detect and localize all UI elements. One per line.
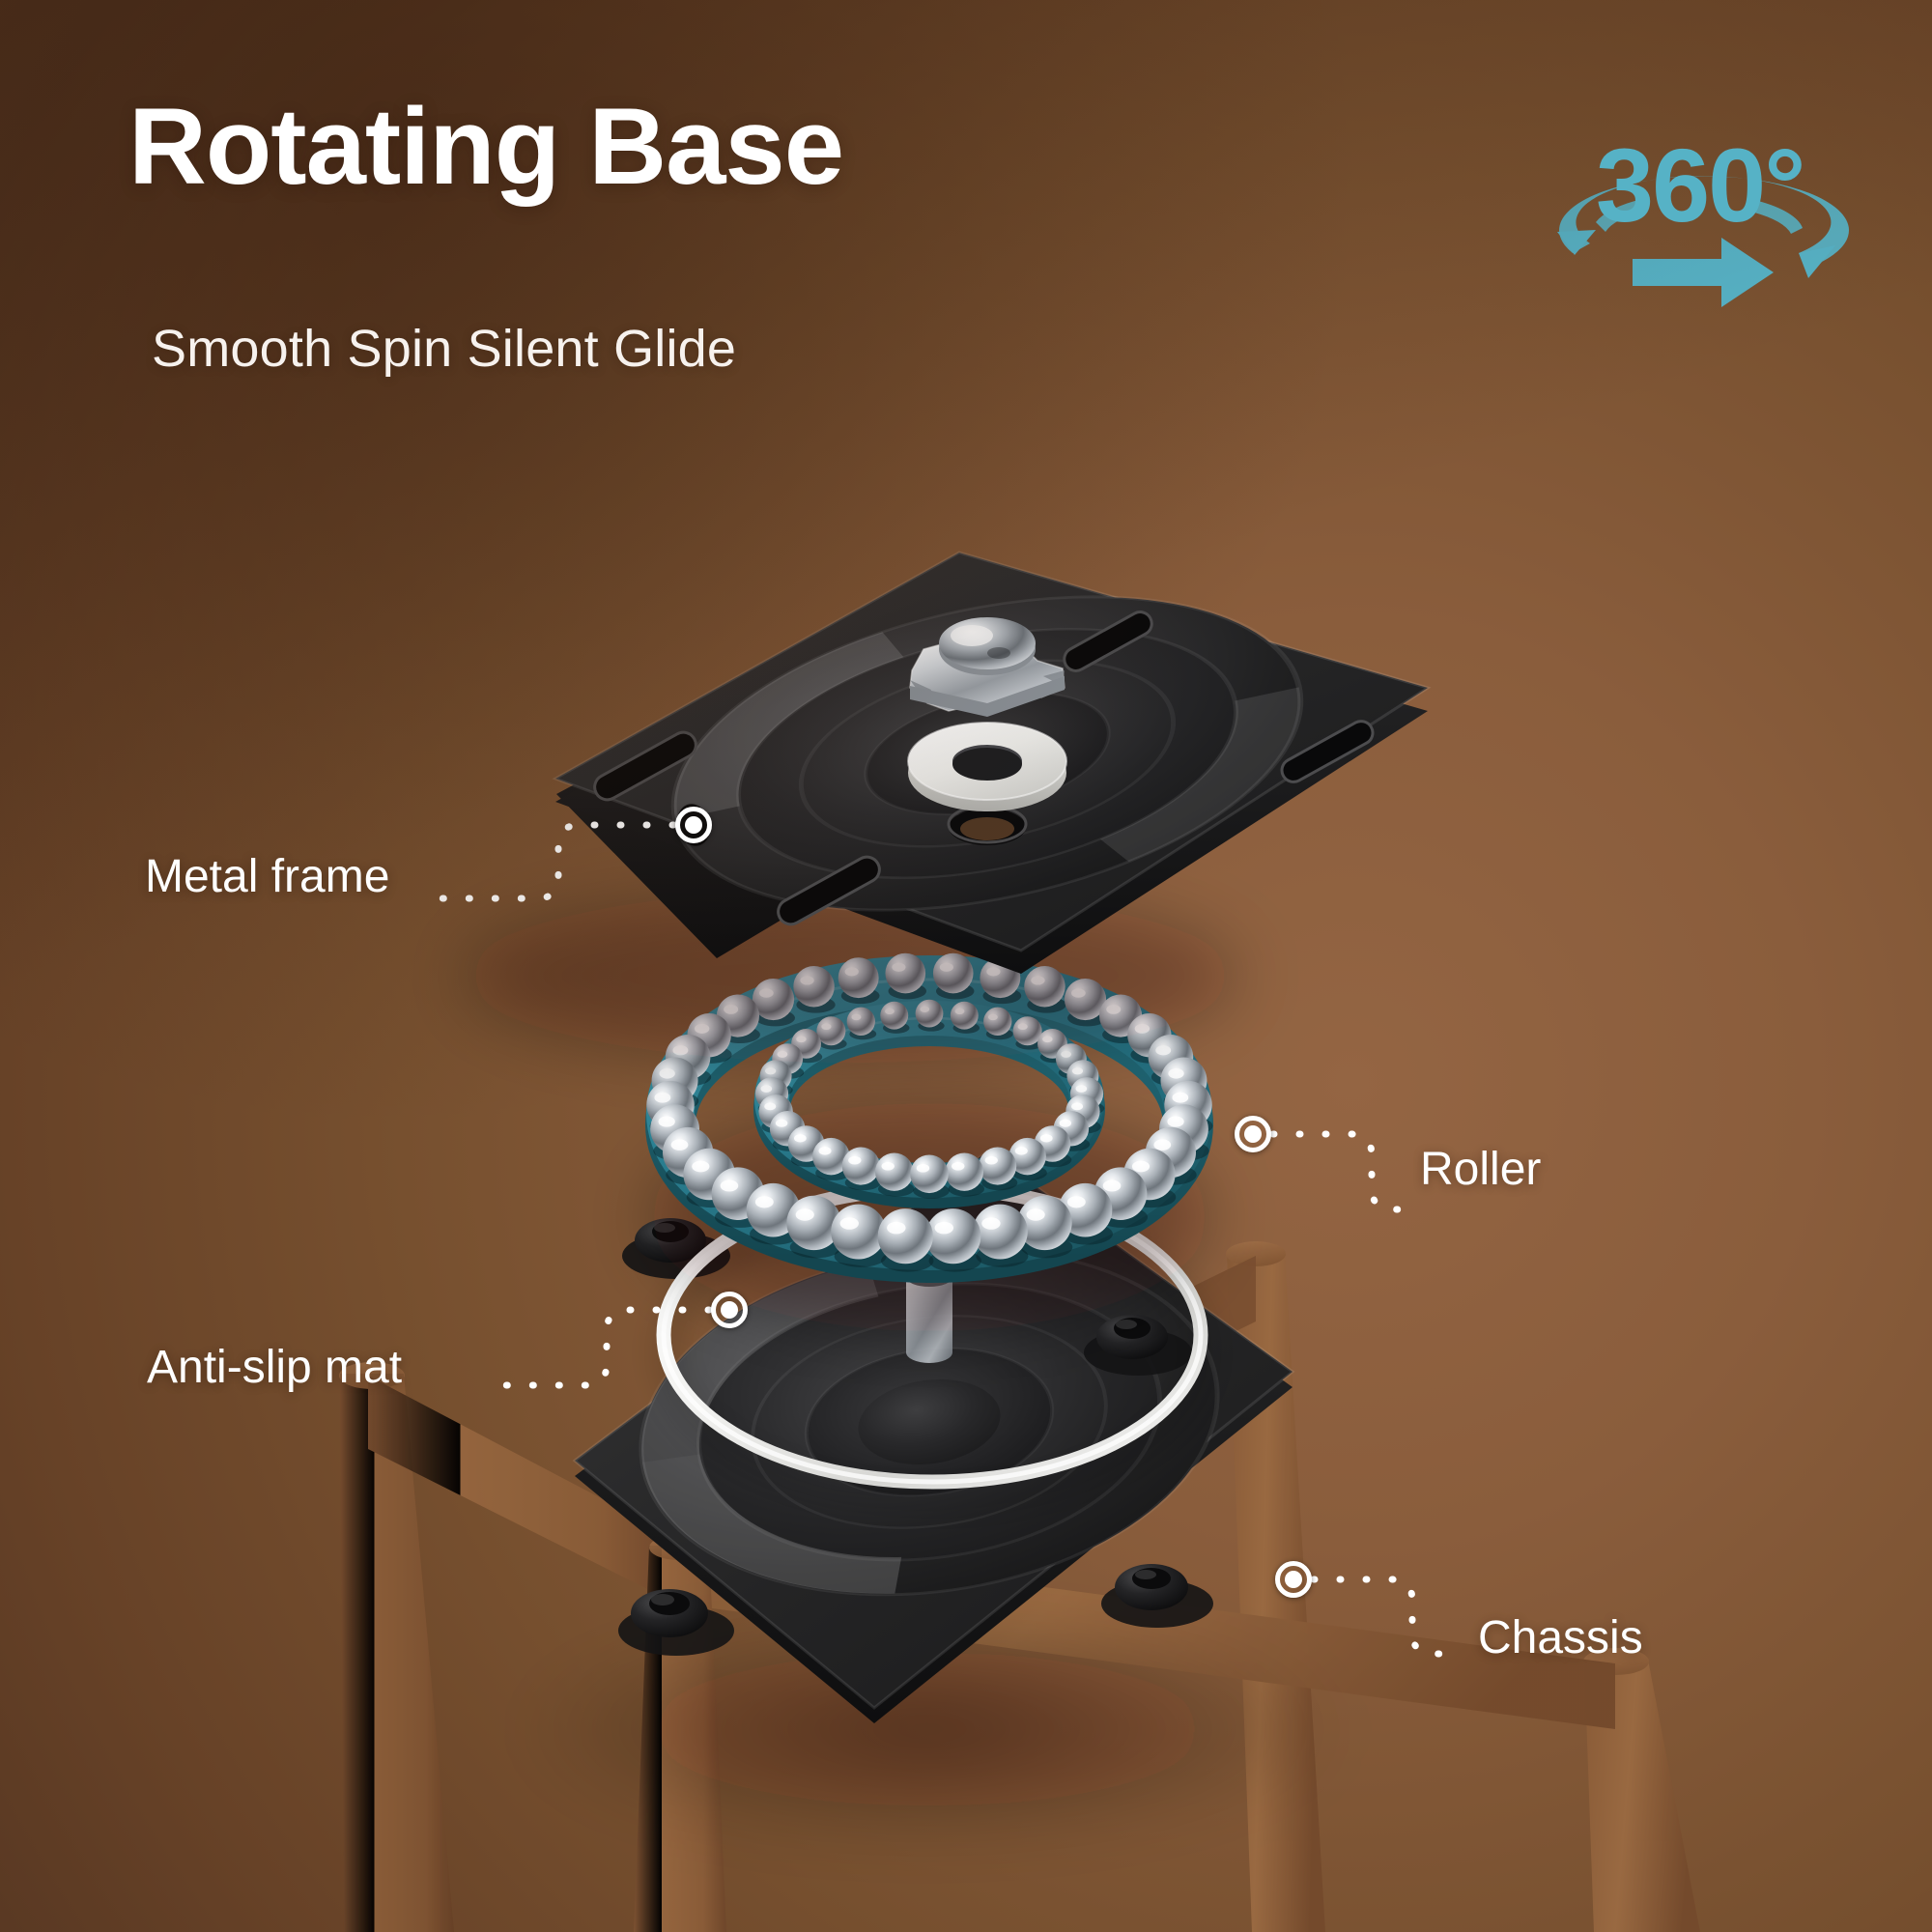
callout-marker-metal-frame[interactable] [675,807,712,843]
callout-marker-chassis[interactable] [1275,1561,1312,1598]
infographic-canvas: Rotating Base Smooth Spin Silent Glide 3… [0,0,1932,1932]
360-degree-badge: 360° [1546,133,1835,317]
callout-label-roller: Roller [1420,1143,1541,1196]
ball-bearing [910,1154,949,1193]
ball-bearing [979,1148,1016,1185]
callout-label-metal-frame: Metal frame [145,850,389,903]
callout-marker-roller[interactable] [1235,1116,1271,1152]
ball-bearing [875,1152,913,1190]
nylon-washer [908,723,1066,811]
callout-label-chassis: Chassis [1478,1611,1643,1664]
callout-marker-anti-slip-mat[interactable] [711,1292,748,1328]
ball-bearing [946,1152,983,1190]
ball-bearing [842,1148,880,1185]
ball-bearing [973,1205,1028,1260]
page-title: Rotating Base [128,92,843,202]
360-badge-label: 360° [1596,133,1804,238]
ball-bearing [925,1208,980,1264]
ball-bearing [831,1205,886,1260]
ball-bearing [878,1208,933,1264]
callout-label-anti-slip-mat: Anti-slip mat [147,1341,402,1394]
page-subtitle: Smooth Spin Silent Glide [152,319,736,379]
